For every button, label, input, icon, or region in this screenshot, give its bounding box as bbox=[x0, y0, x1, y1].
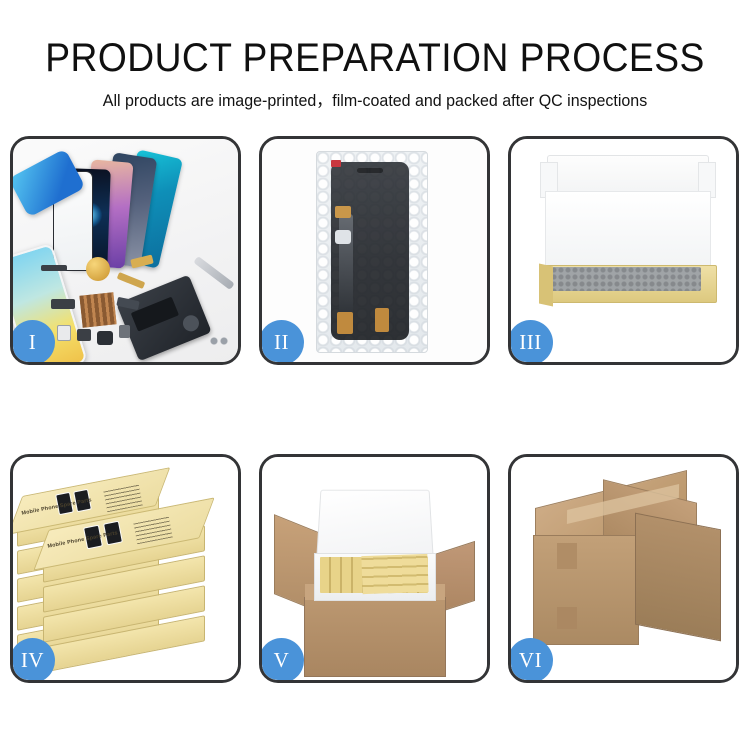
step-numeral-iv: IV bbox=[21, 650, 44, 671]
connector-grid-part bbox=[79, 292, 116, 327]
white-connector bbox=[335, 230, 351, 244]
carton-side-face bbox=[635, 513, 721, 642]
carton-seal-lower bbox=[557, 607, 577, 629]
phone-back-housing bbox=[116, 275, 212, 362]
carton-front-face bbox=[533, 535, 639, 645]
bracket-part bbox=[77, 329, 91, 341]
step-image-sealed-shipping-carton: VI bbox=[511, 457, 736, 680]
step-badge-v: V bbox=[262, 638, 304, 680]
camera-module-part bbox=[51, 299, 75, 309]
step-numeral-vi: VI bbox=[519, 650, 542, 671]
step-badge-vi: VI bbox=[511, 638, 553, 680]
box-side-panel bbox=[539, 264, 553, 307]
process-steps-grid: I II bbox=[10, 136, 740, 688]
step-numeral-v: V bbox=[274, 650, 290, 671]
step-image-bubble-wrapped-screen: II bbox=[262, 139, 487, 362]
gold-contact-bottom-right bbox=[375, 308, 389, 332]
flex-cable-part-b bbox=[117, 272, 146, 289]
step-panel-iii: III bbox=[508, 136, 739, 365]
step-image-carton-with-foam-box: V bbox=[262, 457, 487, 680]
carton-front-panel bbox=[304, 597, 446, 677]
step-badge-i: I bbox=[13, 320, 55, 362]
bubble-wrap-bag bbox=[316, 151, 428, 353]
loudspeaker-part bbox=[97, 331, 113, 345]
step-image-foam-lined-inner-box: III bbox=[511, 139, 736, 362]
step-panel-iv: Mobile Phone Spare Parts Mobile Phone Sp… bbox=[10, 454, 241, 683]
earpiece-speaker-part bbox=[41, 265, 67, 271]
page-title: PRODUCT PREPARATION PROCESS bbox=[26, 35, 724, 81]
vibration-motor-part bbox=[86, 257, 110, 281]
sim-tray-part bbox=[57, 325, 71, 341]
step-numeral-iii: III bbox=[519, 332, 541, 353]
gold-contact-bottom-left bbox=[337, 312, 353, 334]
step-panel-v: V bbox=[259, 454, 490, 683]
step-panel-ii: II bbox=[259, 136, 490, 365]
step-image-raw-products-and-spare-parts: I bbox=[13, 139, 238, 362]
header: PRODUCT PREPARATION PROCESS All products… bbox=[0, 0, 750, 111]
step-numeral-ii: II bbox=[274, 332, 289, 353]
button-part bbox=[119, 325, 130, 338]
step-image-stacked-retail-boxes: Mobile Phone Spare Parts Mobile Phone Sp… bbox=[13, 457, 238, 680]
step-badge-iii: III bbox=[511, 320, 553, 362]
repair-tweezers-icon bbox=[193, 256, 235, 290]
foam-sheet bbox=[545, 191, 711, 269]
red-qc-sticker bbox=[331, 160, 341, 167]
screws-part bbox=[209, 335, 229, 347]
step-panel-vi: VI bbox=[508, 454, 739, 683]
step-badge-ii: II bbox=[262, 320, 304, 362]
step-panel-i: I bbox=[10, 136, 241, 365]
gold-contact-top bbox=[335, 206, 351, 218]
step-numeral-i: I bbox=[29, 332, 37, 353]
page-subtitle: All products are image-printed，film-coat… bbox=[11, 91, 739, 111]
foam-granules bbox=[551, 267, 701, 291]
step-badge-iv: IV bbox=[13, 638, 55, 680]
product-preparation-infographic: PRODUCT PREPARATION PROCESS All products… bbox=[0, 0, 750, 750]
carton-seal-upper bbox=[557, 543, 577, 569]
yellow-boxes-row-2 bbox=[361, 554, 428, 594]
